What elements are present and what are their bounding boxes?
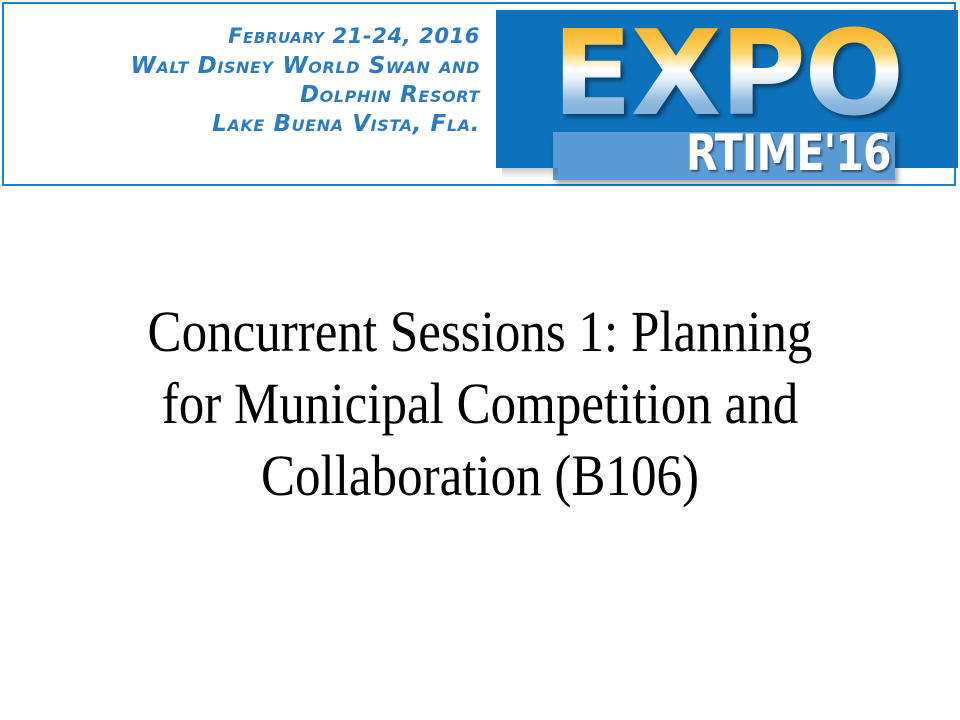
rtime-band: RTIME'16 [553,132,895,180]
expo-logo-panel: EXPO RTIME'16 [496,10,958,168]
header-banner: February 21-24, 2016 Walt Disney World S… [2,2,956,186]
event-dates: February 21-24, 2016 [24,26,480,47]
rtime-wordmark: RTIME'16 [686,128,891,178]
event-location: Lake Buena Vista, Fla. [24,113,480,136]
event-venue-line-1: Walt Disney World Swan and [24,55,480,78]
expo-wordmark: EXPO [552,14,902,132]
slide-title: Concurrent Sessions 1: Planning for Muni… [48,296,912,512]
presentation-slide: February 21-24, 2016 Walt Disney World S… [0,0,960,720]
event-info-block: February 21-24, 2016 Walt Disney World S… [24,26,480,142]
event-venue-line-2: Dolphin Resort [24,84,480,107]
title-line-3: Collaboration (B106) [100,440,860,512]
title-line-2: for Municipal Competition and [100,368,860,440]
title-line-1: Concurrent Sessions 1: Planning [100,296,860,368]
